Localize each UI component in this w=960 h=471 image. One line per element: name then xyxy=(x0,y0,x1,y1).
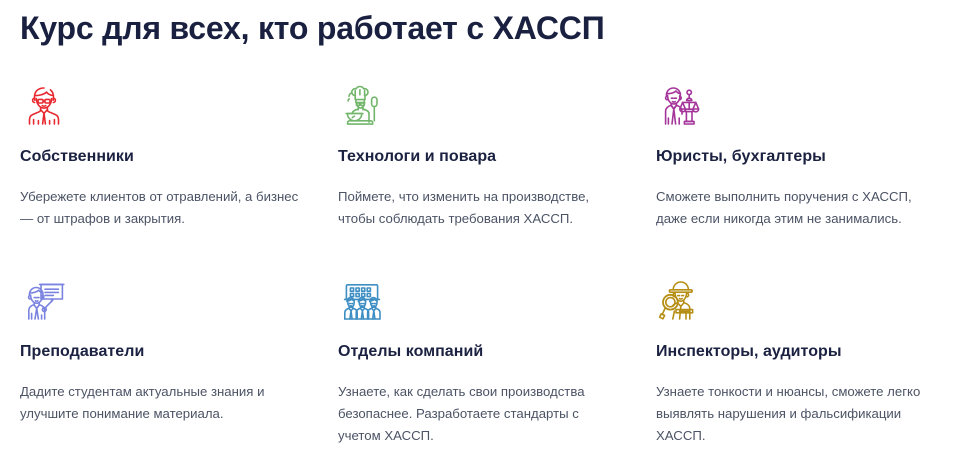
teacher-whiteboard-icon xyxy=(20,277,68,329)
page-title: Курс для всех, кто работает с ХАССП xyxy=(20,8,605,48)
company-departments-icon xyxy=(338,277,386,329)
card-title: Технологи и повара xyxy=(338,147,636,167)
owner-businessman-icon xyxy=(20,82,68,134)
audience-card: Преподаватели Дадите студентам актуальны… xyxy=(20,277,318,447)
card-title: Юристы, бухгалтеры xyxy=(656,147,954,167)
audience-card: Инспекторы, аудиторы Узнаете тонкости и … xyxy=(656,277,954,447)
chef-cook-icon xyxy=(338,82,386,134)
inspector-auditor-icon xyxy=(656,277,704,329)
card-description: Узнаете тонкости и нюансы, сможете легко… xyxy=(656,381,938,447)
card-title: Собственники xyxy=(20,147,318,167)
card-description: Дадите студентам актуальные знания и улу… xyxy=(20,381,302,425)
audience-card: Отделы компаний Узнаете, как сделать сво… xyxy=(338,277,636,447)
card-title: Инспекторы, аудиторы xyxy=(656,342,954,362)
lawyer-scales-icon xyxy=(656,82,704,134)
card-description: Сможете выполнить поручения с ХАССП, даж… xyxy=(656,186,938,230)
card-description: Поймете, что изменить на производстве, ч… xyxy=(338,186,620,230)
card-title: Отделы компаний xyxy=(338,342,636,362)
audience-card: Технологи и повара Поймете, что изменить… xyxy=(338,82,636,230)
audience-card: Юристы, бухгалтеры Сможете выполнить пор… xyxy=(656,82,954,230)
card-description: Узнаете, как сделать свои производства б… xyxy=(338,381,620,447)
audience-card: Собственники Убережете клиентов от отрав… xyxy=(20,82,318,230)
card-title: Преподаватели xyxy=(20,342,318,362)
card-description: Убережете клиентов от отравлений, а бизн… xyxy=(20,186,302,230)
page-root: Курс для всех, кто работает с ХАССП xyxy=(0,0,960,471)
audience-cards-grid: Собственники Убережете клиентов от отрав… xyxy=(20,82,940,447)
